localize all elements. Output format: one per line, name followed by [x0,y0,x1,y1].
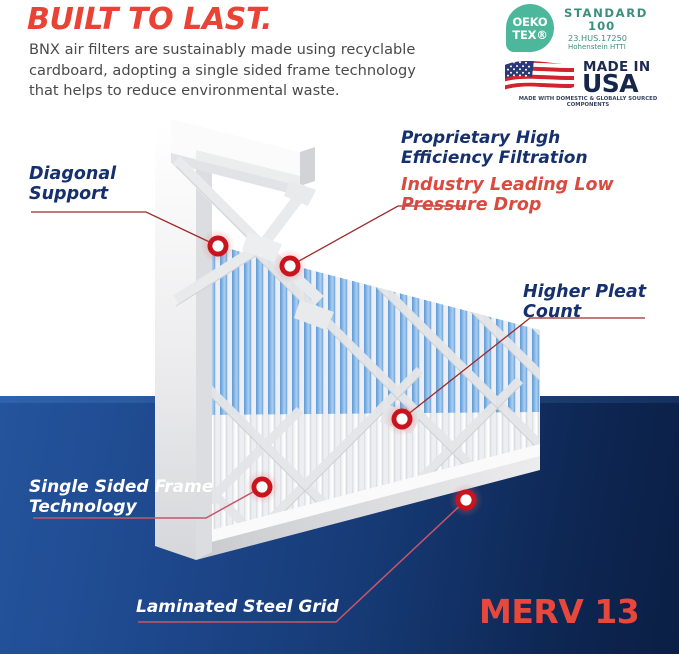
callout-single-sided-frame: Single Sided Frame Technology [29,478,213,518]
hotspot-single-sided-frame [245,470,279,504]
callout-diagonal-support: Diagonal Support [29,164,116,205]
hotspot-diagonal-support [201,229,235,263]
hotspot-laminated-steel [449,483,483,517]
callout-laminated-steel: Laminated Steel Grid [136,598,339,618]
callout-high-efficiency: Proprietary High Efficiency Filtration [401,129,588,169]
hotspot-higher-pleat-count [385,402,419,436]
air-filter-illustration [0,0,679,654]
callout-higher-pleat-count: Higher Pleat Count [523,282,646,323]
callout-pressure-drop: Industry Leading Low Pressure Drop [401,175,614,216]
product-infographic: BUILT TO LAST. BNX air filters are susta… [0,0,679,654]
hotspot-high-efficiency [273,249,307,283]
merv-rating-badge: MERV 13 [479,592,639,631]
